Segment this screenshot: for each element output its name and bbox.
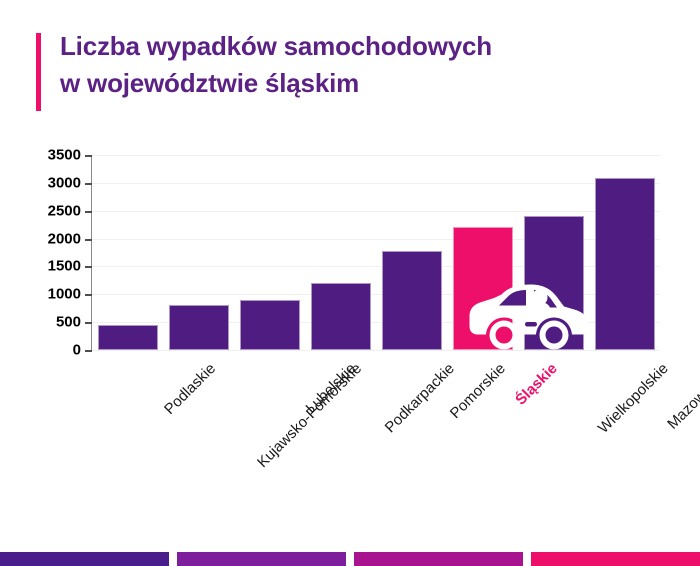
footer-segment-purple [177, 552, 346, 566]
footer-color-bar [0, 552, 700, 566]
bar-podlaskie[interactable] [98, 325, 158, 350]
bar-kujawsko-pomorskie[interactable] [169, 305, 229, 350]
x-axis-label-wielkopolskie: Wielkopolskie [594, 360, 671, 437]
footer-segment-pink [531, 552, 700, 566]
gridline [92, 155, 660, 156]
y-axis-label: 3000 [48, 174, 81, 191]
y-axis-tick [85, 350, 92, 352]
plot-area: 3500300025002000150010005000 PodlaskieKu… [92, 155, 660, 350]
x-axis-label-podlaskie: Podlaskie [161, 360, 219, 418]
footer-gap [169, 552, 177, 566]
y-axis-tick [85, 183, 92, 185]
bar-mazowieckie[interactable] [595, 178, 655, 350]
y-axis-label: 2500 [48, 202, 81, 219]
y-axis-tick [85, 322, 92, 324]
x-axis-label-śląskie: Śląskie [512, 360, 561, 409]
y-axis-tick [85, 266, 92, 268]
gridline [92, 183, 660, 184]
bar-podkarpackie[interactable] [311, 283, 371, 350]
bar-wielkopolskie[interactable] [524, 216, 584, 350]
y-axis-tick [85, 239, 92, 241]
bar-chart: 3500300025002000150010005000 PodlaskieKu… [0, 0, 700, 520]
gridline [92, 211, 660, 212]
bar-śląskie[interactable] [453, 227, 513, 350]
y-axis-label: 1000 [48, 286, 81, 303]
y-axis-tick [85, 211, 92, 213]
y-axis-label: 2000 [48, 230, 81, 247]
bar-lubelskie[interactable] [240, 300, 300, 350]
y-axis-tick [85, 155, 92, 157]
x-axis-label-lubelskie: Lubelskie [302, 360, 359, 417]
footer-segment-magenta [354, 552, 523, 566]
footer-segment-dark-purple [0, 552, 169, 566]
footer-gap [523, 552, 531, 566]
gridline [92, 350, 660, 351]
y-axis-label: 1500 [48, 258, 81, 275]
y-axis-label: 3500 [48, 147, 81, 164]
y-axis-tick [85, 294, 92, 296]
x-axis-label-podkarpackie: Podkarpackie [381, 360, 457, 436]
footer-gap [346, 552, 354, 566]
bar-pomorskie[interactable] [382, 251, 442, 350]
y-axis-label: 0 [73, 342, 81, 359]
y-axis-label: 500 [56, 314, 81, 331]
